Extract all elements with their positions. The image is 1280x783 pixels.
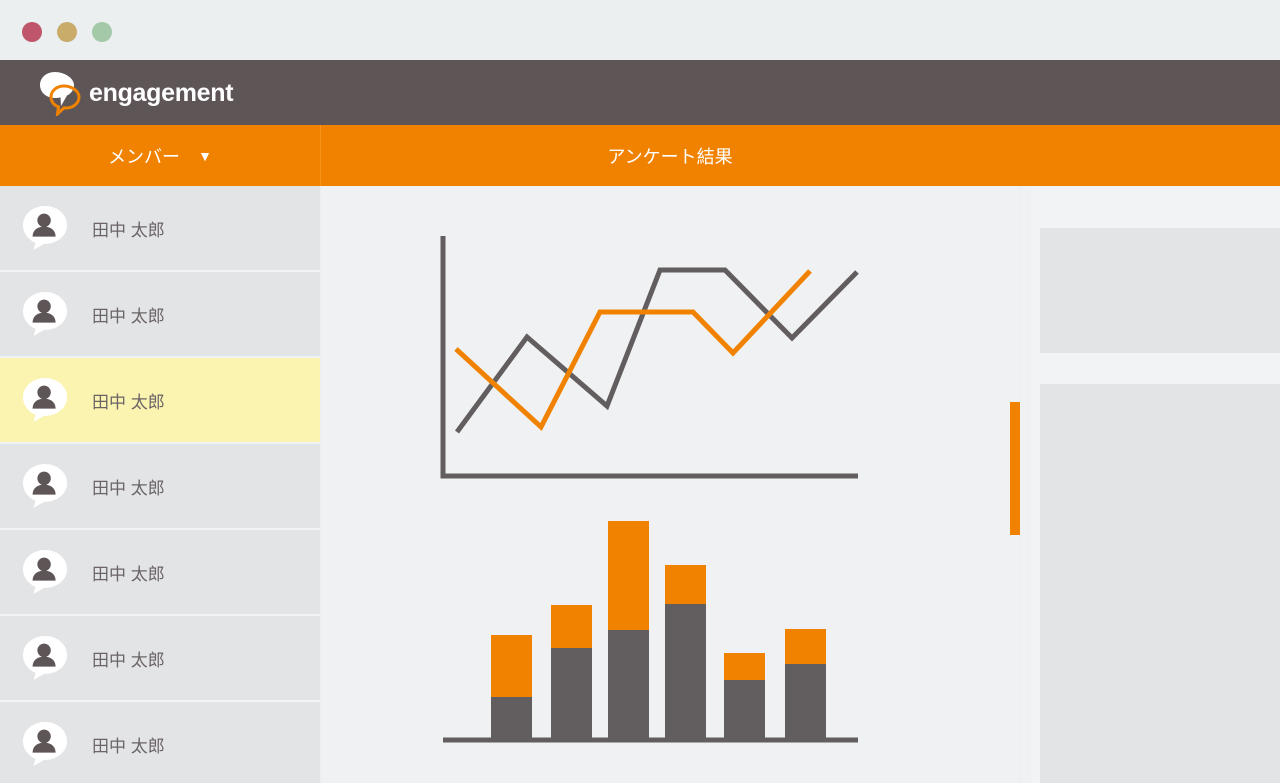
member-avatar-icon	[22, 291, 70, 337]
bar-segment-orange	[785, 629, 826, 664]
member-list-item[interactable]: 田中 太郎	[0, 358, 320, 444]
bar-segment-gray	[724, 680, 765, 738]
app-logo[interactable]: engagement	[38, 68, 298, 118]
app-logo-text: engagement	[89, 79, 233, 108]
primary-navbar: メンバー ▼ アンケート結果	[0, 125, 1280, 186]
bar-segment-orange	[724, 653, 765, 680]
line-chart-axes	[443, 236, 858, 476]
bar-chart	[491, 521, 826, 738]
bar-segment-orange	[491, 635, 532, 697]
right-panel	[1020, 186, 1280, 783]
member-name-label: 田中 太郎	[92, 560, 165, 585]
window-close-button[interactable]	[22, 22, 42, 42]
charts-canvas	[321, 186, 1019, 783]
bar-segment-gray	[491, 697, 532, 738]
right-panel-gutter	[1020, 186, 1031, 783]
member-avatar-icon	[22, 463, 70, 509]
bar-segment-orange	[665, 565, 706, 604]
survey-results-content	[321, 186, 1019, 783]
window-minimize-button[interactable]	[57, 22, 77, 42]
member-name-label: 田中 太郎	[92, 302, 165, 327]
placeholder-block-lower	[1040, 384, 1280, 783]
tab-members-label: メンバー	[108, 143, 180, 169]
navbar-right-region	[1020, 125, 1280, 186]
bar-segment-gray	[665, 604, 706, 738]
member-list-item[interactable]: 田中 太郎	[0, 616, 320, 702]
bar-segment-orange	[608, 521, 649, 630]
tab-survey-results-label: アンケート結果	[607, 143, 732, 169]
line-series-orange	[456, 271, 810, 427]
speech-bubble-logo-icon	[38, 70, 86, 116]
chevron-down-icon: ▼	[198, 149, 212, 163]
member-name-label: 田中 太郎	[92, 388, 165, 413]
member-list-item[interactable]: 田中 太郎	[0, 702, 320, 783]
member-avatar-icon	[22, 721, 70, 767]
app-header: engagement 田中 太郎	[0, 60, 1280, 125]
member-name-label: 田中 太郎	[92, 732, 165, 757]
bar-segment-gray	[551, 648, 592, 738]
member-avatar-icon	[22, 377, 70, 423]
member-avatar-icon	[22, 205, 70, 251]
tab-survey-results[interactable]: アンケート結果	[321, 125, 1019, 186]
app-window: engagement 田中 太郎	[0, 0, 1280, 783]
member-name-label: 田中 太郎	[92, 646, 165, 671]
member-list-item[interactable]: 田中 太郎	[0, 186, 320, 272]
window-titlebar	[0, 0, 1280, 60]
member-avatar-icon	[22, 635, 70, 681]
member-list-item[interactable]: 田中 太郎	[0, 530, 320, 616]
tab-members[interactable]: メンバー ▼	[0, 125, 321, 186]
member-list-item[interactable]: 田中 太郎	[0, 272, 320, 358]
member-name-label: 田中 太郎	[92, 216, 165, 241]
bar-segment-gray	[608, 630, 649, 738]
window-maximize-button[interactable]	[92, 22, 112, 42]
bar-segment-gray	[785, 664, 826, 738]
vertical-scrollbar-thumb[interactable]	[1010, 402, 1020, 535]
bar-segment-orange	[551, 605, 592, 648]
member-list-item[interactable]: 田中 太郎	[0, 444, 320, 530]
member-list[interactable]: 田中 太郎田中 太郎田中 太郎田中 太郎田中 太郎田中 太郎田中 太郎	[0, 186, 320, 783]
line-chart	[443, 236, 858, 476]
placeholder-block-upper	[1040, 228, 1280, 353]
member-avatar-icon	[22, 549, 70, 595]
member-name-label: 田中 太郎	[92, 474, 165, 499]
